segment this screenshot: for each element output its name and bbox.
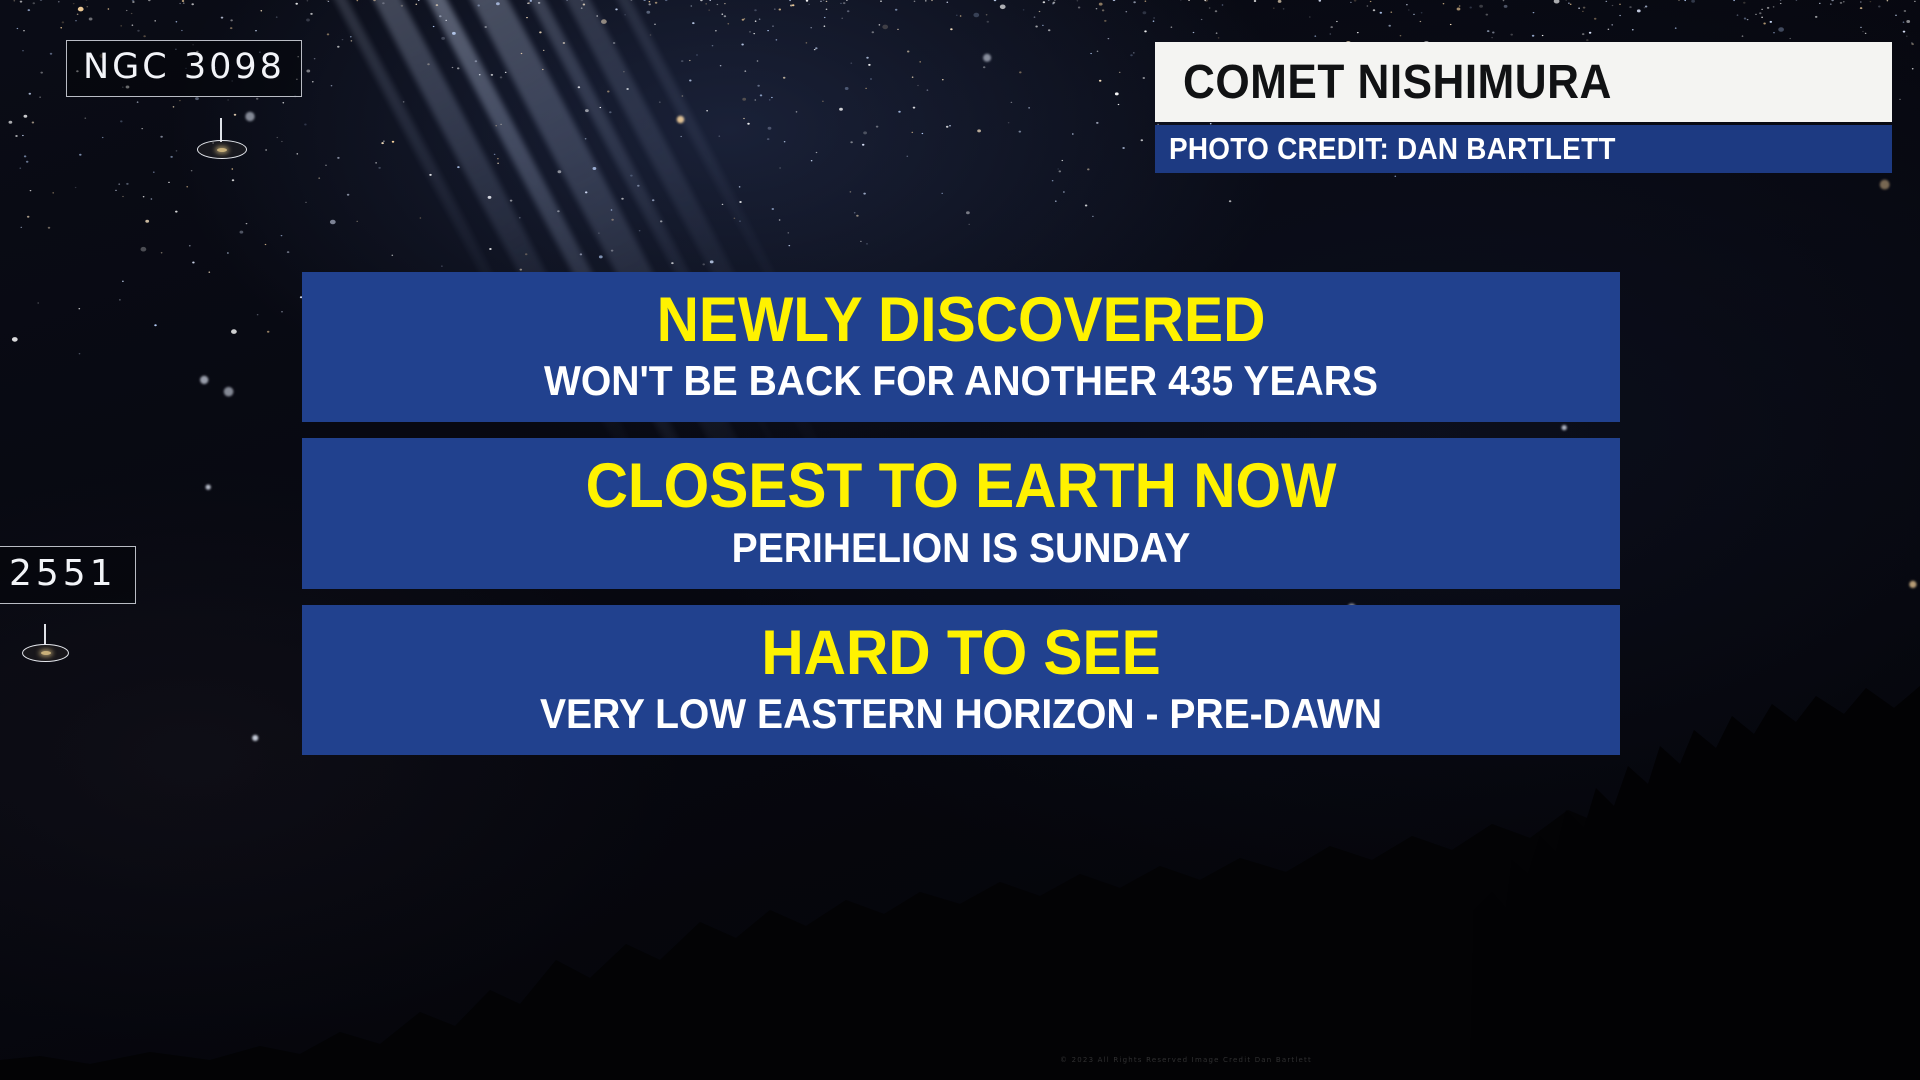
photo-credit-text: PHOTO CREDIT: DAN BARTLETT xyxy=(1169,131,1616,167)
page-title: COMET NISHIMURA xyxy=(1183,55,1612,110)
info-band: CLOSEST TO EARTH NOW PERIHELION IS SUNDA… xyxy=(302,438,1620,588)
headline-title-bar: COMET NISHIMURA xyxy=(1155,42,1892,122)
sky-object-label-ngc-3098: NGC 3098 xyxy=(66,40,302,97)
sky-object-label-2551: 2551 xyxy=(0,546,136,604)
leader-line xyxy=(220,118,222,142)
info-band-headline: HARD TO SEE xyxy=(348,621,1574,685)
info-band-headline: NEWLY DISCOVERED xyxy=(348,288,1574,352)
info-band: HARD TO SEE VERY LOW EASTERN HORIZON - P… xyxy=(302,605,1620,755)
sky-object-label-text: NGC 3098 xyxy=(66,40,302,97)
leader-line xyxy=(44,624,46,645)
title-block: COMET NISHIMURA PHOTO CREDIT: DAN BARTLE… xyxy=(1155,42,1892,173)
object-marker-ellipse xyxy=(22,644,69,662)
info-band-subtext: PERIHELION IS SUNDAY xyxy=(348,525,1574,571)
photo-credit-bar: PHOTO CREDIT: DAN BARTLETT xyxy=(1155,125,1892,173)
object-marker-ellipse xyxy=(197,140,247,159)
info-band: NEWLY DISCOVERED WON'T BE BACK FOR ANOTH… xyxy=(302,272,1620,422)
info-band-subtext: VERY LOW EASTERN HORIZON - PRE-DAWN xyxy=(348,691,1574,737)
sky-object-label-text: 2551 xyxy=(0,546,136,604)
info-band-headline: CLOSEST TO EARTH NOW xyxy=(348,454,1574,518)
broadcast-graphic: NGC 3098 2551 COMET NISHIMURA PHOTO CRED… xyxy=(0,0,1920,1080)
image-watermark: © 2023 All Rights Reserved Image Credit … xyxy=(1060,1056,1312,1064)
info-band-subtext: WON'T BE BACK FOR ANOTHER 435 YEARS xyxy=(348,358,1574,404)
info-bands: NEWLY DISCOVERED WON'T BE BACK FOR ANOTH… xyxy=(302,272,1620,771)
